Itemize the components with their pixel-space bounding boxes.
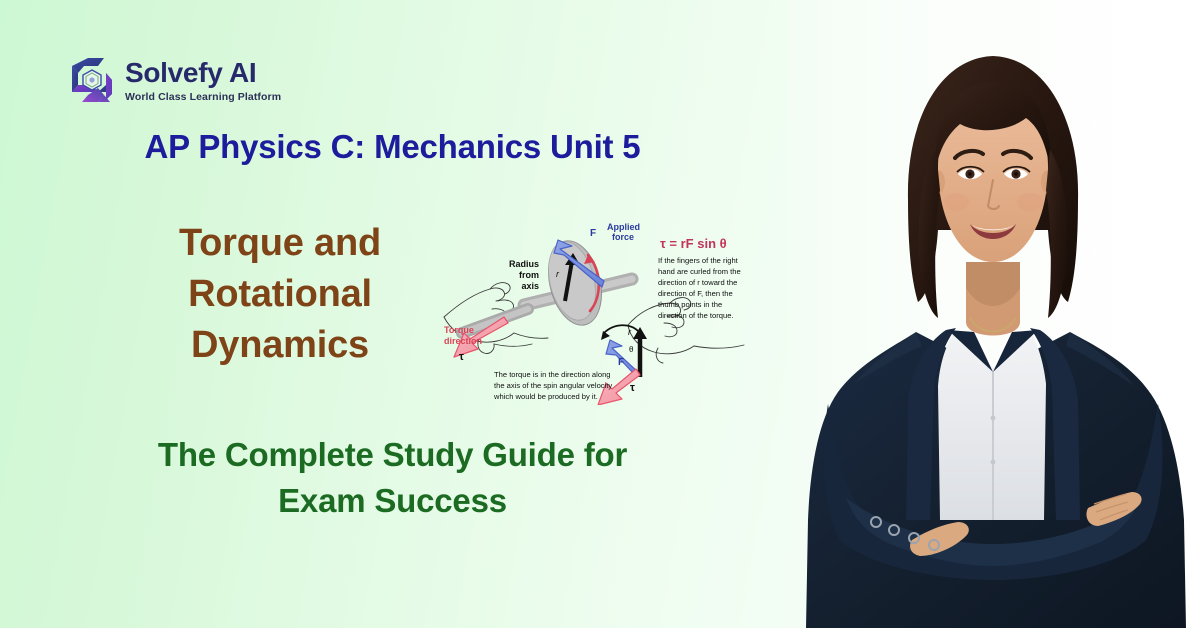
diagram-label-applied-force-2: force bbox=[612, 232, 634, 242]
diagram-label-torque-2: direction bbox=[444, 336, 482, 346]
brand-tagline: World Class Learning Platform bbox=[125, 92, 281, 103]
diagram-caption: The torque is in the direction along the… bbox=[493, 370, 612, 401]
study-guide-tagline-line2: Exam Success bbox=[0, 478, 785, 524]
svg-text:The torque is in the direction: The torque is in the direction along bbox=[494, 370, 611, 379]
diagram-label-torque-symbol: τ bbox=[459, 351, 464, 363]
svg-text:If the fingers of the right: If the fingers of the right bbox=[658, 256, 739, 265]
svg-text:direction of r toward the: direction of r toward the bbox=[658, 278, 737, 287]
svg-text:direction of the torque.: direction of the torque. bbox=[658, 311, 734, 320]
svg-text:hand are curled from the: hand are curled from the bbox=[658, 267, 741, 276]
diagram-label-radius-1: Radius bbox=[509, 259, 539, 269]
study-guide-tagline-line1: The Complete Study Guide for bbox=[0, 432, 785, 478]
course-title-wrap: AP Physics C: Mechanics Unit 5 bbox=[0, 128, 785, 167]
torque-right-hand-rule-diagram: F Applied force Radius from axis r Torqu… bbox=[432, 205, 772, 405]
svg-text:direction of F, then the: direction of F, then the bbox=[658, 289, 733, 298]
diagram-label-applied-force-1: Applied bbox=[607, 222, 640, 232]
diagram-label-theta: θ bbox=[629, 345, 634, 354]
diagram-formula: τ = rF sin θ bbox=[660, 236, 727, 251]
study-guide-tagline: The Complete Study Guide for Exam Succes… bbox=[0, 432, 785, 523]
presenter-photo bbox=[788, 0, 1200, 628]
diagram-label-torque-symbol-2: τ bbox=[630, 382, 635, 394]
svg-text:the axis of the spin angular v: the axis of the spin angular velocity bbox=[494, 381, 612, 390]
poster-canvas: Solvefy AI World Class Learning Platform… bbox=[0, 0, 1200, 628]
svg-text:thumb points in the: thumb points in the bbox=[658, 300, 722, 309]
diagram-label-force-symbol: F bbox=[590, 228, 596, 239]
diagram-note: If the fingers of the right hand are cur… bbox=[658, 256, 741, 320]
hexagon-s-logo-icon bbox=[68, 54, 116, 106]
course-title: AP Physics C: Mechanics Unit 5 bbox=[0, 128, 785, 167]
brand-name: Solvefy AI bbox=[125, 59, 281, 87]
brand-logo[interactable]: Solvefy AI World Class Learning Platform bbox=[68, 54, 281, 106]
diagram-label-force-symbol-2: F bbox=[618, 357, 624, 368]
diagram-label-radius-3: axis bbox=[521, 281, 539, 291]
diagram-label-radius-2: from bbox=[519, 270, 539, 280]
svg-text:which would be produced by it.: which would be produced by it. bbox=[493, 392, 598, 401]
diagram-label-torque-1: Torque bbox=[444, 325, 474, 335]
